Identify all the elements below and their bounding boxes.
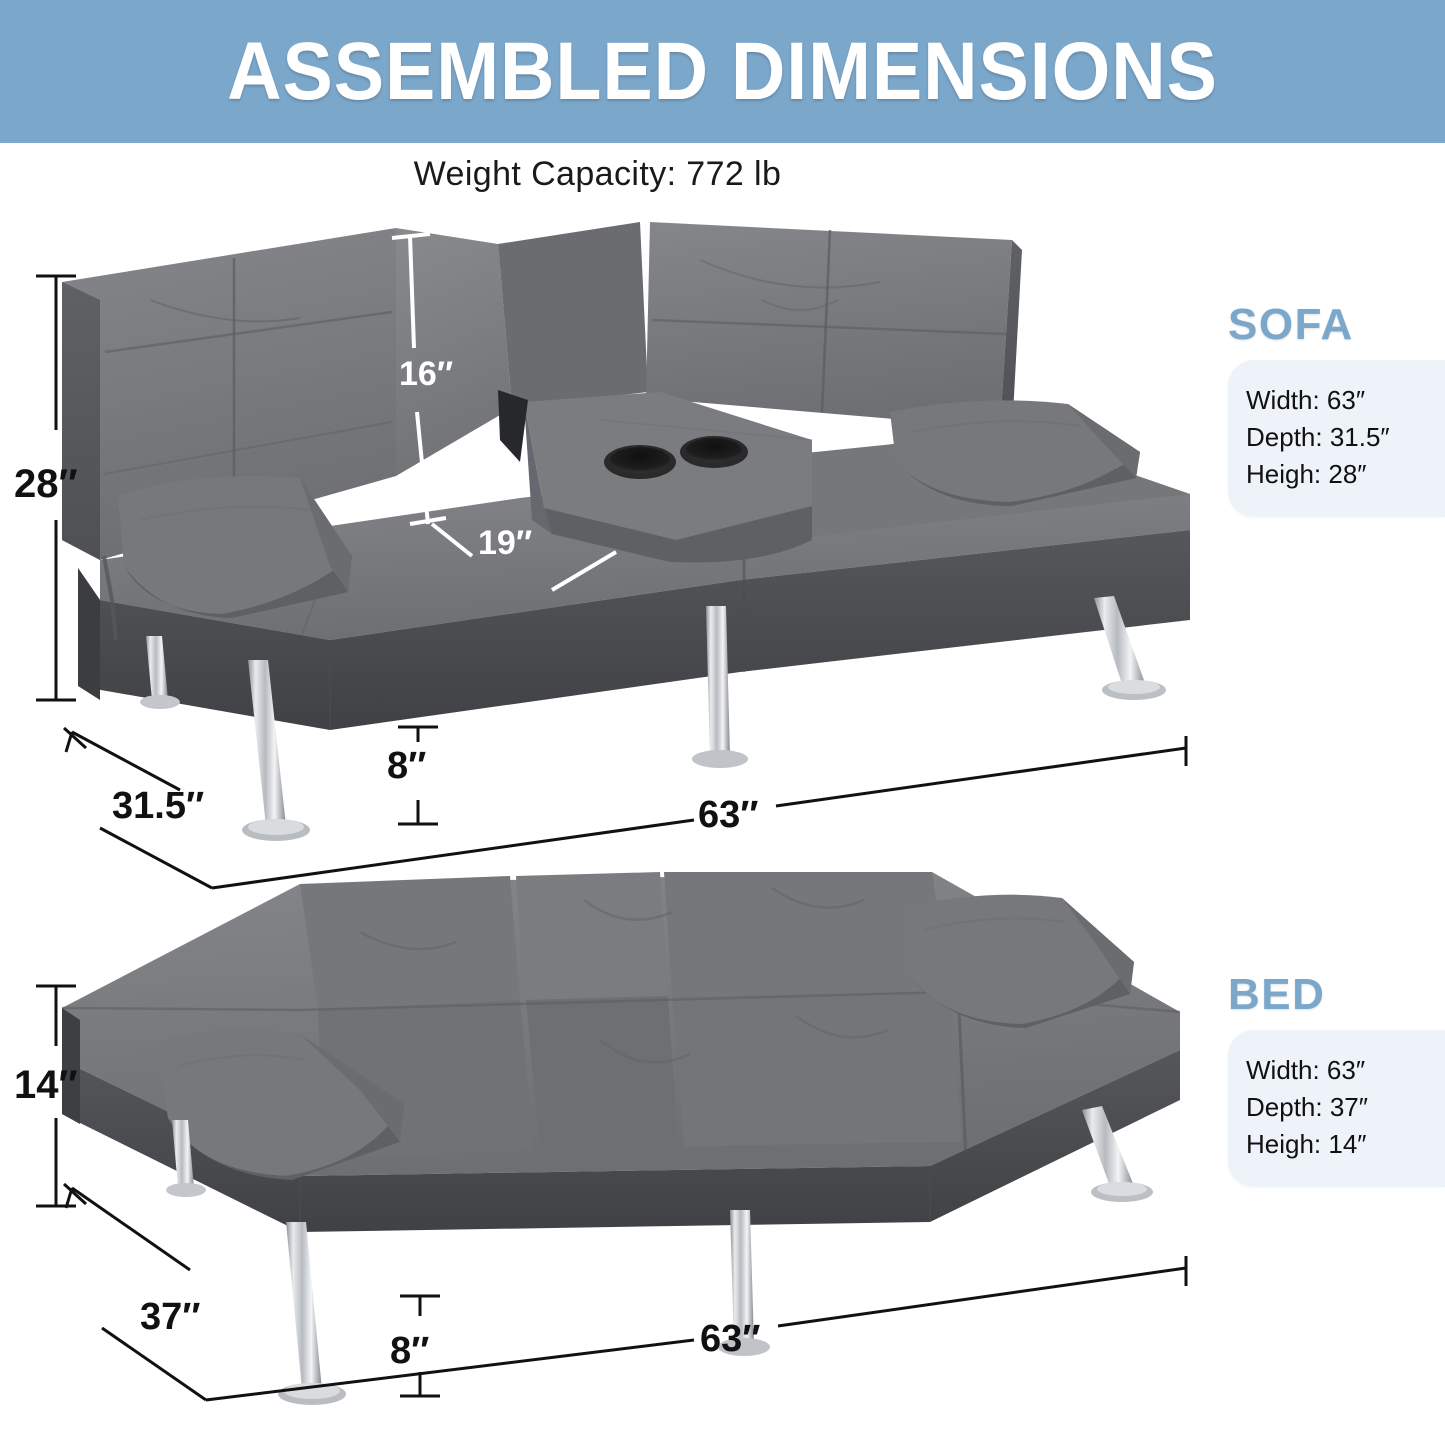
dimension-label-sofa-leg: 8″ bbox=[387, 745, 426, 788]
dimension-line-bed-depth bbox=[64, 1184, 206, 1400]
dimension-line-bed-width bbox=[206, 1256, 1186, 1400]
spec-heading-bed: BED bbox=[1228, 970, 1445, 1020]
dimension-label-bed-height: 14″ bbox=[14, 1063, 78, 1108]
dimension-label-sofa-height: 28″ bbox=[14, 462, 78, 507]
sofa-leg-front-right bbox=[692, 606, 748, 768]
spec-block-sofa: SOFA Width: 63″ Depth: 31.5″ Heigh: 28″ bbox=[1228, 300, 1445, 517]
sofa-illustration bbox=[36, 222, 1190, 888]
sofa-leg-front-left bbox=[242, 660, 310, 841]
dimension-label-bed-leg: 8″ bbox=[390, 1330, 429, 1373]
bed-illustration bbox=[36, 872, 1186, 1405]
dimension-label-sofa-width: 63″ bbox=[698, 794, 758, 837]
spec-line-bed-width: Width: 63″ bbox=[1246, 1052, 1435, 1089]
dimension-label-sofa-depth: 31.5″ bbox=[112, 785, 204, 828]
bed-leg-back-right bbox=[1082, 1106, 1153, 1202]
spec-heading-sofa: SOFA bbox=[1228, 300, 1445, 350]
spec-block-bed: BED Width: 63″ Depth: 37″ Heigh: 14″ bbox=[1228, 970, 1445, 1187]
bed-leg-front-left bbox=[278, 1222, 346, 1405]
spec-line-bed-depth: Depth: 37″ bbox=[1246, 1089, 1435, 1126]
header-banner: ASSEMBLED DIMENSIONS bbox=[0, 0, 1445, 143]
spec-card-sofa: Width: 63″ Depth: 31.5″ Heigh: 28″ bbox=[1228, 360, 1445, 517]
product-illustrations bbox=[0, 0, 1445, 1444]
cup-holder-icon bbox=[604, 436, 748, 479]
dimension-label-bed-width: 63″ bbox=[700, 1318, 760, 1361]
weight-capacity-label: Weight Capacity: 772 lb bbox=[0, 155, 1195, 194]
spec-card-bed: Width: 63″ Depth: 37″ Heigh: 14″ bbox=[1228, 1030, 1445, 1187]
spec-line-bed-height: Heigh: 14″ bbox=[1246, 1126, 1435, 1163]
dimension-label-backrest-height: 16″ bbox=[399, 355, 453, 394]
spec-line-sofa-width: Width: 63″ bbox=[1246, 382, 1435, 419]
dimension-label-bed-depth: 37″ bbox=[140, 1296, 200, 1339]
bed-leg-back-left bbox=[166, 1120, 206, 1197]
spec-line-sofa-depth: Depth: 31.5″ bbox=[1246, 419, 1435, 456]
sofa-leg-back-left bbox=[140, 636, 180, 709]
spec-line-sofa-height: Heigh: 28″ bbox=[1246, 456, 1435, 493]
dimension-label-seat-depth: 19″ bbox=[478, 524, 532, 563]
sofa-leg-back-right bbox=[1094, 596, 1166, 700]
page-title: ASSEMBLED DIMENSIONS bbox=[227, 25, 1218, 119]
